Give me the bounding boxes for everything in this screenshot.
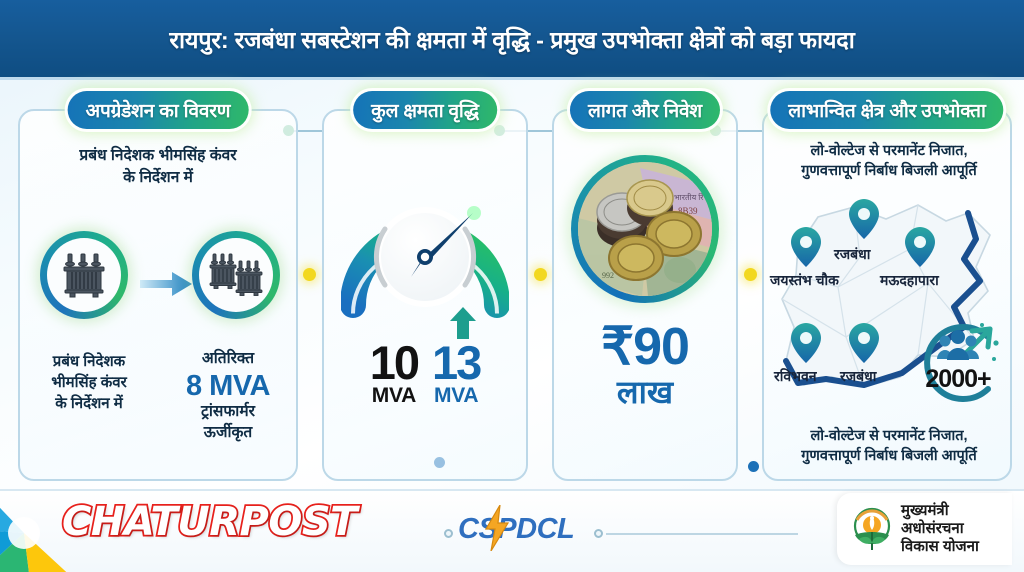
- arrow-up-icon: [450, 307, 476, 339]
- upgrade-extra-label: अतिरिक्त: [160, 349, 296, 370]
- capacity-values: 10 MVA 13 MVA: [324, 341, 526, 408]
- capacity-after: 13 MVA: [432, 341, 480, 408]
- panel-cost-heading: लागत और निवेश: [588, 97, 702, 123]
- map-pin-label-rajbandha-top: रजबंधा: [834, 245, 870, 264]
- scheme-logo-text: मुख्यमंत्री अधोसंरचना विकास योजना: [901, 502, 979, 557]
- cost-amount-value: ₹90: [554, 321, 736, 373]
- arrow-right-icon: [140, 271, 192, 297]
- map-pin-label-maudahapara: मऊदहापारा: [880, 271, 939, 290]
- government-emblem-icon: [849, 505, 895, 553]
- lightning-bolt-icon: [484, 505, 510, 551]
- svg-text:भारतीय रिज़र्व: भारतीय रिज़र्व: [674, 192, 712, 202]
- scheme-line-2: अधोसंरचना: [901, 520, 979, 538]
- panel-capacity-heading-pill: कुल क्षमता वृद्धि: [353, 91, 497, 129]
- benefit-bottom-text: लो-वोल्टेज से परमानेंट निजात,गुणवत्तापूर…: [770, 426, 1008, 467]
- upgrade-transformer-label: ट्रांसफार्मरऊर्जीकृत: [160, 402, 296, 444]
- panel-upgrade-left-label: प्रबंध निदेशकभीमसिंह कंवरके निर्देशन में: [24, 351, 154, 414]
- map-pin-label-jaisthambh-chowk: जयस्तंभ चौक: [770, 271, 839, 290]
- panel-capacity-heading: कुल क्षमता वृद्धि: [371, 97, 479, 123]
- panel-upgrade-heading: अपग्रेडेशन का विवरण: [86, 97, 231, 123]
- consumer-count-badge: 2000+: [910, 315, 1006, 411]
- panels-stage: अपग्रेडेशन का विवरण प्रबंध निदेशक भीमसिं…: [0, 83, 1024, 489]
- speedometer-gauge: [341, 173, 509, 323]
- page-title-bar: रायपुर: रजबंधा सबस्टेशन की क्षमता में वृ…: [0, 0, 1024, 80]
- indian-coins-and-notes-photo: भारतीय रिज़र्व 8B39 992: [571, 155, 719, 303]
- page-title: रायपुर: रजबंधा सबस्टेशन की क्षमता में वृ…: [169, 23, 854, 55]
- cspdcl-text: CSPDCL: [458, 513, 574, 545]
- footer-connector-line: [606, 533, 798, 535]
- benefit-top-text: लो-वोल्टेज से परमानेंट निजात,गुणवत्तापूर…: [770, 141, 1008, 182]
- connector-dot-blue-2: [748, 461, 759, 472]
- coins-illustration: भारतीय रिज़र्व 8B39 992: [578, 162, 712, 296]
- infographic-page: रायपुर: रजबंधा सबस्टेशन की क्षमता में वृ…: [0, 0, 1024, 572]
- footer-dot-2: [594, 529, 603, 538]
- capacity-before: 10 MVA: [370, 341, 418, 408]
- connector-dot-yellow-2: [534, 268, 547, 281]
- scheme-line-1: मुख्यमंत्री: [901, 502, 979, 520]
- capacity-after-value: 13: [432, 341, 480, 384]
- footer-dot-1: [444, 529, 453, 538]
- upgrade-mva-value: 8 MVA: [160, 370, 296, 402]
- consumer-count-value: 2000+: [910, 365, 1006, 394]
- panel-upgrade-details: अपग्रेडेशन का विवरण प्रबंध निदेशक भीमसिं…: [18, 109, 298, 481]
- footer-bar: CHATURPOST CSPDCL मुख्यमंत्री: [0, 489, 1024, 572]
- transformer-icon: [40, 231, 128, 319]
- panel-cost-heading-pill: लागत और निवेश: [570, 91, 720, 129]
- panel-benefit-heading: लाभान्वित क्षेत्र और उपभोक्ता: [788, 97, 985, 123]
- capacity-after-unit: MVA: [432, 384, 480, 408]
- coins-image-inner: भारतीय रिज़र्व 8B39 992: [578, 162, 712, 296]
- cost-amount-block: ₹90 लाख: [554, 321, 736, 411]
- scheme-line-3: विकास योजना: [901, 538, 979, 556]
- panel-upgrade-caption: प्रबंध निदेशक भीमसिंह कंवरके निर्देशन मे…: [20, 145, 296, 189]
- chhattisgarh-district-map: रजबंधा मऊदहापारा जयस्तंभ चौक रविभवन रजबं…: [768, 187, 1010, 425]
- cspdcl-logo[interactable]: CSPDCL: [458, 513, 574, 546]
- transformer-glyph: [59, 251, 109, 299]
- connector-dot-yellow-1: [303, 268, 316, 281]
- chaturpost-logo[interactable]: CHATURPOST: [62, 499, 357, 545]
- svg-text:992: 992: [602, 271, 614, 280]
- double-transformer-icon: [192, 231, 280, 319]
- cost-amount-unit: लाख: [554, 373, 736, 411]
- panel-benefit-heading-pill: लाभान्वित क्षेत्र और उपभोक्ता: [770, 91, 1003, 129]
- panel-benefit-areas: लाभान्वित क्षेत्र और उपभोक्ता लो-वोल्टेज…: [762, 109, 1012, 481]
- panel-total-capacity: कुल क्षमता वृद्धि: [322, 109, 528, 481]
- map-pin-label-rajbandha-bottom: रजबंधा: [840, 367, 876, 386]
- map-pin-label-ravibhavan: रविभवन: [774, 367, 817, 386]
- panel-upgrade-heading-pill: अपग्रेडेशन का विवरण: [68, 91, 249, 129]
- capacity-before-value: 10: [370, 341, 418, 384]
- double-transformer-glyph: [208, 252, 264, 298]
- panel-cost-investment: लागत और निवेश भारतीय रिज़र्व 8B39 992: [552, 109, 738, 481]
- people-group-growth-icon: [910, 315, 1006, 411]
- capacity-before-unit: MVA: [370, 384, 418, 408]
- connector-dot-yellow-3: [744, 268, 757, 281]
- panel-upgrade-right-block: अतिरिक्त 8 MVA ट्रांसफार्मरऊर्जीकृत: [160, 349, 296, 444]
- scheme-logo: मुख्यमंत्री अधोसंरचना विकास योजना: [837, 493, 1012, 565]
